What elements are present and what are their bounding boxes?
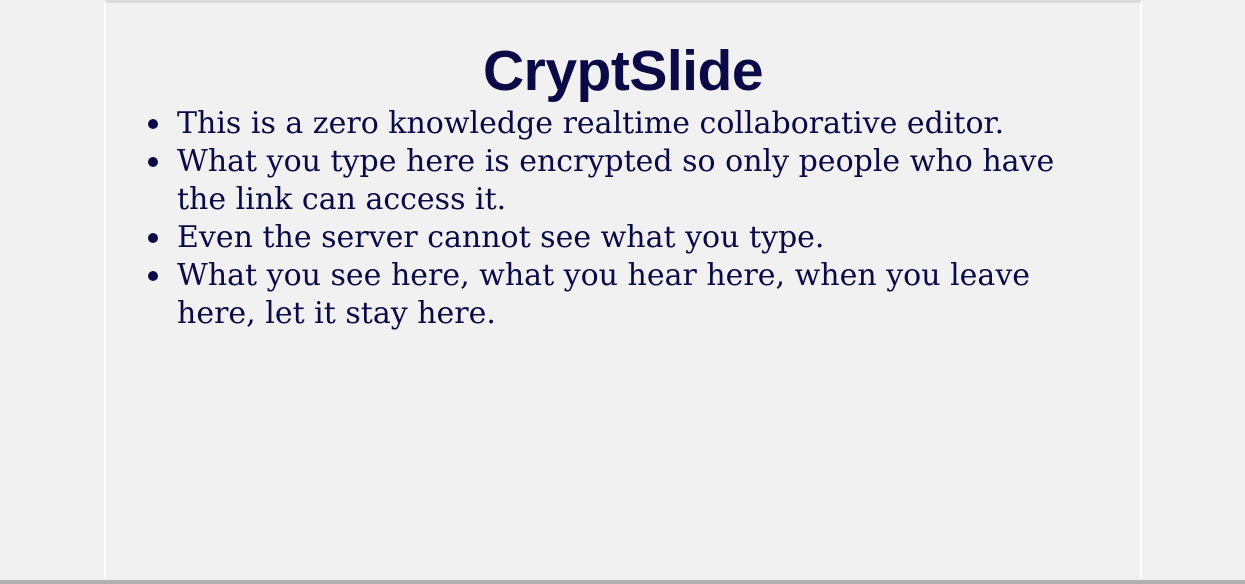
bullet-dot-icon xyxy=(148,157,158,167)
slide-right-edge-line xyxy=(1140,2,1142,578)
bullet-text: This is a zero knowledge realtime collab… xyxy=(177,105,1110,143)
bullet-dot-icon xyxy=(148,119,158,129)
bullet-dot-icon xyxy=(148,271,158,281)
left-gutter xyxy=(0,0,105,584)
bullet-text: What you type here is encrypted so only … xyxy=(177,143,1110,219)
list-item[interactable]: Even the server cannot see what you type… xyxy=(106,219,1140,257)
list-item[interactable]: What you see here, what you hear here, w… xyxy=(106,257,1140,333)
slide-body[interactable]: This is a zero knowledge realtime collab… xyxy=(106,105,1140,333)
list-item[interactable]: This is a zero knowledge realtime collab… xyxy=(106,105,1140,143)
bullet-list: This is a zero knowledge realtime collab… xyxy=(106,105,1140,333)
slide-viewer: CryptSlide This is a zero knowledge real… xyxy=(0,0,1245,584)
bullet-dot-icon xyxy=(148,233,158,243)
bullet-text: What you see here, what you hear here, w… xyxy=(177,257,1110,333)
slide-title[interactable]: CryptSlide xyxy=(106,3,1140,101)
list-item[interactable]: What you type here is encrypted so only … xyxy=(106,143,1140,219)
right-gutter xyxy=(1141,0,1245,584)
bullet-text: Even the server cannot see what you type… xyxy=(177,219,1110,257)
slide-canvas[interactable]: CryptSlide This is a zero knowledge real… xyxy=(106,3,1140,578)
viewport-bottom-rule xyxy=(0,580,1245,584)
